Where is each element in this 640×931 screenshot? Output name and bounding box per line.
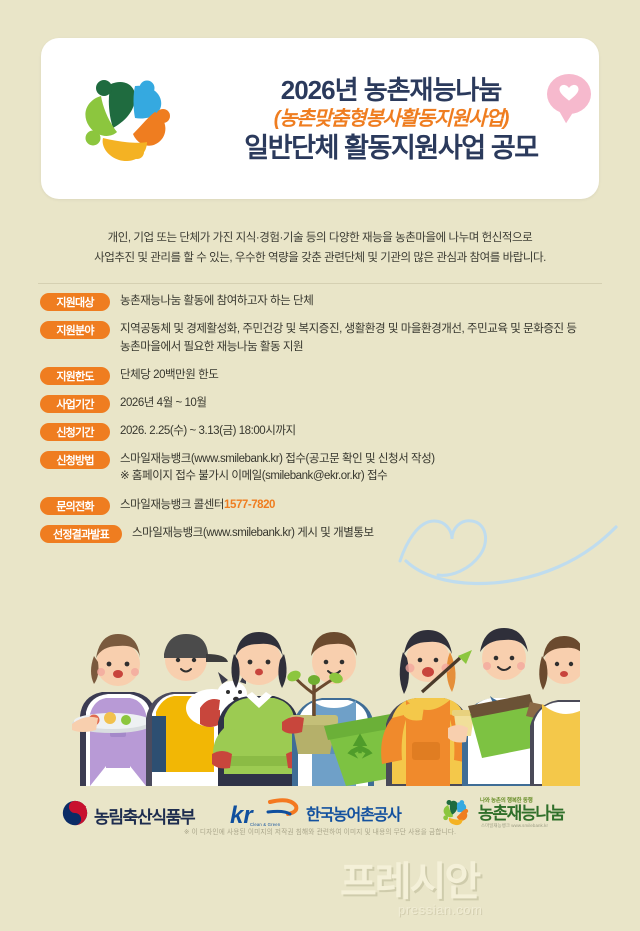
badge-project-period: 사업기간 — [40, 395, 110, 413]
value-application-method: 스마일재능뱅크(www.smilebank.kr) 접수(공고문 확인 및 신청… — [120, 450, 606, 487]
badge-application-method: 신청방법 — [40, 451, 110, 469]
footer-logo-krc-label: 한국농어촌공사 — [306, 801, 401, 825]
watermark-korean: 프레시안 — [340, 862, 620, 902]
info-row-support-field: 지원분야 지역공동체 및 경제활성화, 주민건강 및 복지증진, 생활환경 및 … — [40, 320, 606, 357]
footer-logo-smilebank-label: 농촌재능나눔 — [478, 805, 564, 822]
badge-support-limit: 지원한도 — [40, 367, 110, 385]
value-line: 농촌재능나눔 활동에 참여하고자 하는 단체 — [120, 293, 606, 311]
info-row-support-target: 지원대상 농촌재능나눔 활동에 참여하고자 하는 단체 — [40, 292, 606, 311]
info-row-project-period: 사업기간 2026년 4월 ~ 10월 — [40, 394, 606, 413]
value-support-field: 지역공동체 및 경제활성화, 주민건강 및 복지증진, 생활환경 및 마을환경개… — [120, 320, 606, 357]
title-line-2: (농촌맞춤형봉사활동지원사업) — [274, 107, 509, 131]
watermark-english: pressian.com — [398, 902, 483, 917]
info-row-contact-phone: 문의전화 스마일재능뱅크 콜센터1577-7820 — [40, 496, 606, 515]
value-result-announcement: 스마일재능뱅크(www.smilebank.kr) 게시 및 개별통보 — [132, 524, 606, 543]
value-line: 스마일재능뱅크 콜센터1577-7820 — [120, 497, 606, 515]
intro-line-1: 개인, 기업 또는 단체가 가진 지식·경험·기술 등의 다양한 재능을 농촌마… — [40, 228, 600, 248]
intro-line-2: 사업추진 및 관리를 할 수 있는, 우수한 역량을 갖춘 관련단체 및 기관의… — [40, 248, 600, 268]
value-line: 스마일재능뱅크(www.smilebank.kr) 게시 및 개별통보 — [132, 525, 606, 543]
call-center-label: 스마일재능뱅크 콜센터 — [120, 499, 224, 511]
value-line: ※ 홈페이지 접수 불가시 이메일(smilebank@ekr.or.kr) 접… — [120, 468, 606, 486]
value-project-period: 2026년 4월 ~ 10월 — [120, 394, 606, 413]
divider-rule — [38, 283, 602, 284]
value-support-limit: 단체당 20백만원 한도 — [120, 366, 606, 385]
value-line: 스마일재능뱅크(www.smilebank.kr) 접수(공고문 확인 및 신청… — [120, 451, 606, 469]
volunteer-people-illustration — [60, 596, 580, 786]
pinwheel-people-logo — [63, 56, 191, 184]
info-row-application-method: 신청방법 스마일재능뱅크(www.smilebank.kr) 접수(공고문 확인… — [40, 450, 606, 487]
intro-paragraph: 개인, 기업 또는 단체가 가진 지식·경험·기술 등의 다양한 재능을 농촌마… — [40, 228, 600, 268]
call-center-number[interactable]: 1577-7820 — [224, 499, 275, 511]
info-row-support-limit: 지원한도 단체당 20백만원 한도 — [40, 366, 606, 385]
value-line: 2026년 4월 ~ 10월 — [120, 395, 606, 413]
value-support-target: 농촌재능나눔 활동에 참여하고자 하는 단체 — [120, 292, 606, 311]
badge-contact-phone: 문의전화 — [40, 497, 110, 515]
footer-logo-krc: kr Clean & Green 한국농어촌공사 — [228, 798, 401, 828]
info-list: 지원대상 농촌재능나눔 활동에 참여하고자 하는 단체 지원분야 지역공동체 및… — [40, 292, 606, 552]
value-line: 지역공동체 및 경제활성화, 주민건강 및 복지증진, 생활환경 및 마을환경개… — [120, 321, 606, 339]
value-line: 2026. 2.25(수) ~ 3.13(금) 18:00시까지 — [120, 423, 606, 441]
value-line: 단체당 20백만원 한도 — [120, 367, 606, 385]
badge-application-period: 신청기간 — [40, 423, 110, 441]
kr-logo-icon: kr Clean & Green — [228, 798, 300, 828]
footer-logo-magf-label: 농림축산식품부 — [94, 803, 194, 828]
copyright-notice: ※ 이 디자인에 사용된 이미지의 저작권 침해와 관련하여 이미지 및 내용의… — [0, 826, 640, 836]
title-line-1: 2026년 농촌재능나눔 — [281, 76, 502, 106]
header-card: 2026년 농촌재능나눔 (농촌맞춤형봉사활동지원사업) 일반단체 활동지원사업… — [41, 38, 599, 199]
value-application-period: 2026. 2.25(수) ~ 3.13(금) 18:00시까지 — [120, 422, 606, 441]
value-contact-phone: 스마일재능뱅크 콜센터1577-7820 — [120, 496, 606, 515]
footer-logo-smilebank-text: 나와 농촌의 행복한 동행 농촌재능나눔 스마일재능뱅크 www.smileba… — [478, 799, 564, 829]
badge-result-announcement: 선정결과발표 — [40, 525, 122, 543]
heart-speech-bubble-icon — [547, 74, 591, 114]
header-title-block: 2026년 농촌재능나눔 (농촌맞춤형봉사활동지원사업) 일반단체 활동지원사업… — [191, 50, 591, 190]
info-row-result-announcement: 선정결과발표 스마일재능뱅크(www.smilebank.kr) 게시 및 개별… — [40, 524, 606, 543]
poster-canvas: 2026년 농촌재능나눔 (농촌맞춤형봉사활동지원사업) 일반단체 활동지원사업… — [0, 0, 640, 931]
title-line-3: 일반단체 활동지원사업 공모 — [244, 133, 537, 164]
pressian-watermark: 프레시안 pressian.com — [340, 862, 620, 924]
badge-support-target: 지원대상 — [40, 293, 110, 311]
info-row-application-period: 신청기간 2026. 2.25(수) ~ 3.13(금) 18:00시까지 — [40, 422, 606, 441]
footer-logos: 농림축산식품부 kr Clean & Green 한국농어촌공사 — [0, 792, 640, 852]
badge-support-field: 지원분야 — [40, 321, 110, 339]
value-line: 농촌마을에서 필요한 재능나눔 활동 지원 — [120, 339, 606, 357]
